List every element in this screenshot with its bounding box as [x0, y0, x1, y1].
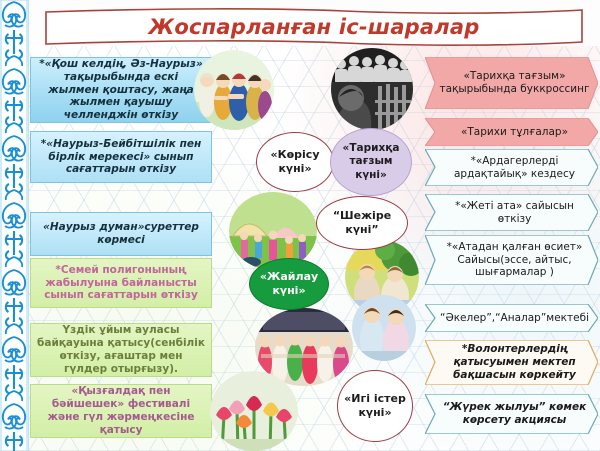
left-card-1-text: *«Қош келдің, Әз-Наурыз» тақырыбында еск…	[37, 58, 205, 122]
right-card-4-text: *«Жеті ата» сайысын өткізу	[439, 200, 590, 226]
right-card-7[interactable]: *Волонтерлердің қатысуымен мектеп бақшас…	[425, 340, 598, 385]
right-card-3-text: *«Ардагерлерді ардақтайық» кездесу	[439, 155, 590, 181]
bubble-korisu[interactable]: «Көрісу күні»	[256, 132, 334, 192]
left-card-4-text: *Семей полигонының жабылуына байланысты …	[37, 264, 205, 302]
right-card-1-text: «Тарихқа тағзым» тақырыбында буккроссинг	[439, 70, 590, 96]
left-card-5-text: Үздік ұйым ауласы байқауына қатысу(сенбі…	[37, 324, 205, 375]
bubble-tarih-text: «Тарихқа тағзым күні»	[335, 142, 407, 183]
right-card-2[interactable]: «Тарихи тұлғалар»	[425, 118, 598, 146]
left-card-1[interactable]: *«Қош келдің, Әз-Наурыз» тақырыбында еск…	[30, 57, 212, 123]
photo-tulips	[210, 371, 298, 451]
right-card-1[interactable]: «Тарихқа тағзым» тақырыбында буккроссинг	[425, 57, 598, 109]
page-title: Жоспарланған іс-шаралар	[44, 6, 584, 48]
title-banner: Жоспарланған іс-шаралар	[44, 6, 584, 48]
photo-shejire-village	[229, 192, 317, 270]
photo-history-bw	[331, 48, 413, 130]
right-card-8-text: “Жүрек жылуы” көмек көрсету акциясы	[439, 401, 590, 427]
poster-canvas: Жоспарланған іс-шаралар *«Қош келдің, Әз…	[0, 0, 600, 451]
bubble-shejire[interactable]: “Шежіре күні”	[316, 196, 408, 250]
bubble-jailau[interactable]: «Жайлау күні»	[249, 258, 329, 310]
left-card-4[interactable]: *Семей полигонының жабылуына байланысты …	[30, 258, 212, 308]
bubble-tarih[interactable]: «Тарихқа тағзым күні»	[330, 128, 412, 196]
left-card-6[interactable]: «Қызғалдақ пен бәйшешек» фестивалі және …	[30, 384, 212, 438]
left-card-3-text: «Наурыз думан»суреттер көрмесі	[37, 221, 205, 247]
right-card-5-text: *«Атадан қалған өсиет» Сайысы(эссе, айты…	[439, 241, 590, 279]
left-card-5[interactable]: Үздік ұйым ауласы байқауына қатысу(сенбі…	[30, 323, 212, 377]
right-card-7-text: *Волонтерлердің қатысуымен мектеп бақшас…	[439, 343, 590, 381]
bubble-igi[interactable]: «Игі істер күні»	[337, 370, 413, 442]
photo-kids-yurt	[352, 295, 416, 361]
left-card-3[interactable]: «Наурыз думан»суреттер көрмесі	[30, 212, 212, 256]
right-card-4[interactable]: *«Жеті ата» сайысын өткізу	[425, 194, 598, 231]
bubble-jailau-text: «Жайлау күні»	[254, 270, 324, 299]
bubble-shejire-text: “Шежіре күні”	[321, 209, 403, 238]
right-card-6[interactable]: “Әкелер”,“Аналар”мектебі	[425, 304, 598, 332]
right-card-2-text: «Тарихи тұлғалар»	[439, 126, 590, 139]
right-card-8[interactable]: “Жүрек жылуы” көмек көрсету акциясы	[425, 394, 598, 434]
right-card-5[interactable]: *«Атадан қалған өсиет» Сайысы(эссе, айты…	[425, 235, 598, 285]
left-card-2-text: *«Наурыз-Бейбітшілік пен бірлік мерекесі…	[37, 138, 205, 176]
right-card-3[interactable]: *«Ардагерлерді ардақтайық» кездесу	[425, 149, 598, 186]
left-card-6-text: «Қызғалдақ пен бәйшешек» фестивалі және …	[37, 385, 205, 436]
bubble-igi-text: «Игі істер күні»	[342, 392, 408, 421]
left-card-2[interactable]: *«Наурыз-Бейбітшілік пен бірлік мерекесі…	[30, 131, 212, 183]
right-card-6-text: “Әкелер”,“Аналар”мектебі	[439, 312, 590, 325]
photo-nauryz-greeting	[194, 50, 274, 130]
bubble-korisu-text: «Көрісу күні»	[261, 148, 329, 177]
kazakh-ornament-border	[0, 0, 29, 451]
